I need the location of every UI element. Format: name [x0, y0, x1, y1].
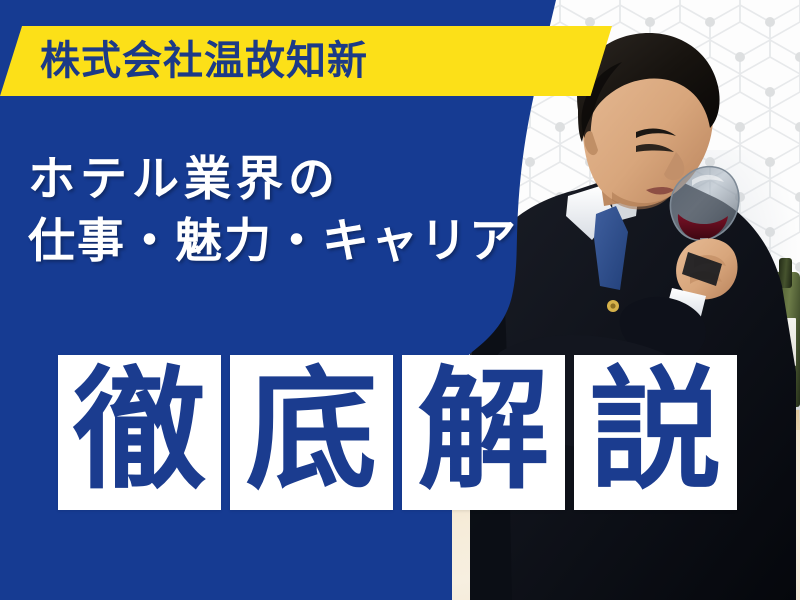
lapel-pin-center: [610, 303, 615, 308]
emphasis-box-1: 徹: [58, 355, 221, 510]
emphasis-box-2: 底: [230, 355, 393, 510]
emphasis-box-3: 解: [402, 355, 565, 510]
company-name: 株式会社温故知新: [40, 30, 368, 92]
headline-block: ホテル業界の 仕事・魅力・キャリア: [28, 148, 518, 272]
emphasis-char-4: 説: [590, 365, 722, 497]
emphasis-char-3: 解: [418, 365, 550, 497]
hotel-industry-promo-banner: 株式会社温故知新 ホテル業界の 仕事・魅力・キャリア 徹 底 解 説: [0, 0, 800, 600]
emphasis-box-4: 説: [574, 355, 737, 510]
emphasis-char-2: 底: [246, 365, 378, 497]
emphasis-char-1: 徹: [74, 365, 206, 497]
headline-line-2: 仕事・魅力・キャリア: [28, 210, 518, 272]
emphasis-word-boxes: 徹 底 解 説: [58, 355, 737, 510]
headline-line-1: ホテル業界の: [28, 148, 518, 210]
